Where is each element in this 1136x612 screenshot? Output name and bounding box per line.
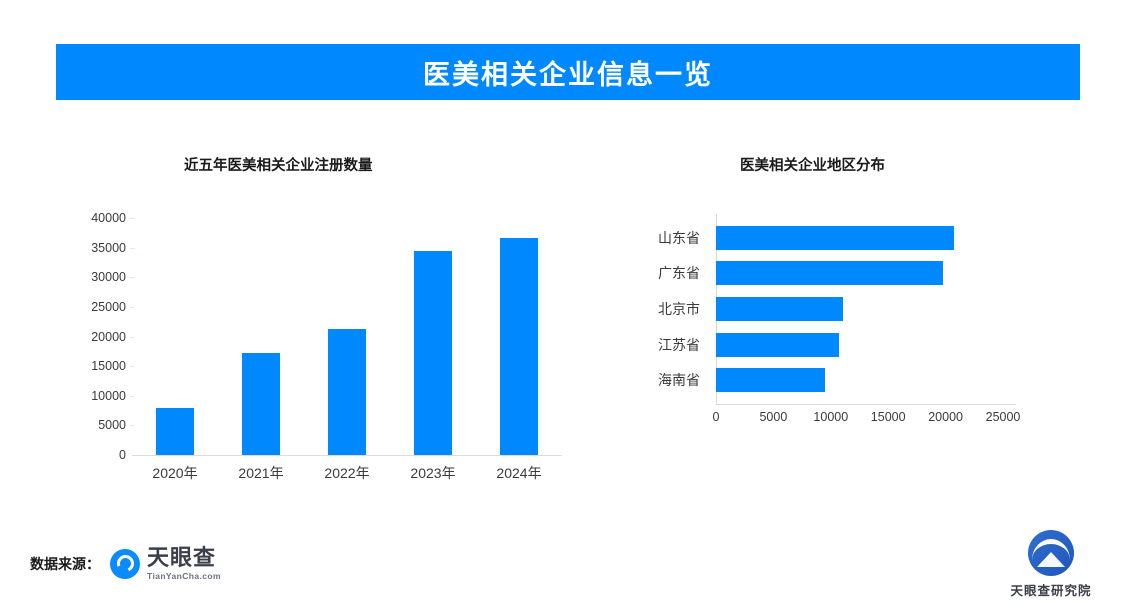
left-chart-bars [132, 218, 562, 455]
registration-count-chart: 近五年医美相关企业注册数量 05000100001500020000250003… [56, 148, 576, 498]
region-label: 江苏省 [610, 335, 716, 355]
tianyancha-logo: 天眼查 TianYanCha.com [110, 548, 221, 581]
infographic-page: 医美相关企业信息一览 近五年医美相关企业注册数量 050001000015000… [0, 0, 1136, 612]
region-row: 山东省 [610, 220, 1080, 256]
left-chart-x-tick: 2023年 [390, 463, 476, 483]
left-chart-baseline [132, 455, 562, 456]
region-bar-track [716, 327, 1080, 363]
bar [716, 333, 839, 357]
bar [242, 353, 280, 456]
right-chart-x-tick: 0 [713, 410, 720, 424]
right-chart-x-tick: 10000 [813, 410, 848, 424]
left-chart-y-tick: 5000 [98, 418, 126, 432]
bar [156, 408, 194, 455]
left-chart-y-tick: 25000 [91, 300, 126, 314]
region-row: 江苏省 [610, 327, 1080, 363]
left-chart-y-tick: 10000 [91, 389, 126, 403]
region-label: 海南省 [610, 370, 716, 390]
institute-logo: 天眼查研究院 [996, 530, 1106, 599]
left-chart-y-tick: 35000 [91, 241, 126, 255]
right-chart-x-axis: 0500010000150002000025000 [716, 410, 1036, 432]
tianyancha-eye-icon [110, 549, 140, 579]
left-chart-x-tick: 2022年 [304, 463, 390, 483]
header-banner: 医美相关企业信息一览 [56, 44, 1080, 100]
brand-name-cn: 天眼查 [147, 548, 221, 570]
right-chart-bars: 山东省广东省北京市江苏省海南省 [610, 220, 1080, 398]
institute-mark-icon [1028, 530, 1074, 576]
right-chart-x-tick: 20000 [928, 410, 963, 424]
brand-name-en: TianYanCha.com [147, 572, 221, 581]
bar [716, 297, 843, 321]
region-bar-track [716, 362, 1080, 398]
right-chart-x-tick: 15000 [871, 410, 906, 424]
page-title: 医美相关企业信息一览 [423, 53, 713, 92]
left-chart-tick-mark [130, 366, 135, 367]
left-chart-tick-mark [130, 248, 135, 249]
bar [716, 368, 825, 392]
bar-column [390, 218, 476, 455]
left-chart-y-tick: 15000 [91, 359, 126, 373]
left-chart-tick-mark [130, 307, 135, 308]
left-chart-y-axis: 0500010000150002000025000300003500040000 [56, 210, 126, 400]
left-chart-tick-mark [130, 218, 135, 219]
bar [414, 251, 452, 455]
left-chart-title: 近五年医美相关企业注册数量 [184, 154, 373, 175]
bar-column [304, 218, 390, 455]
bar [716, 261, 943, 285]
right-chart-title: 医美相关企业地区分布 [740, 154, 885, 175]
region-label: 北京市 [610, 299, 716, 319]
source-label: 数据来源： [30, 554, 100, 574]
bar [500, 238, 538, 455]
bar-column [476, 218, 562, 455]
region-bar-track [716, 291, 1080, 327]
left-chart-y-tick: 30000 [91, 270, 126, 284]
left-chart-y-tick: 40000 [91, 211, 126, 225]
region-label: 广东省 [610, 263, 716, 283]
region-bar-track [716, 220, 1080, 256]
left-chart-x-tick: 2024年 [476, 463, 562, 483]
left-chart-x-tick: 2020年 [132, 463, 218, 483]
right-chart-x-tick: 25000 [986, 410, 1021, 424]
left-chart-y-tick: 0 [119, 448, 126, 462]
left-chart-tick-mark [130, 337, 135, 338]
right-chart-x-axis-line [716, 404, 1016, 405]
region-label: 山东省 [610, 228, 716, 248]
bar-column [132, 218, 218, 455]
left-chart-y-tick: 20000 [91, 330, 126, 344]
left-chart-x-tick: 2021年 [218, 463, 304, 483]
right-chart-x-tick: 5000 [759, 410, 787, 424]
left-chart-x-axis: 2020年2021年2022年2023年2024年 [132, 463, 562, 483]
left-chart-tick-mark [130, 396, 135, 397]
region-row: 北京市 [610, 291, 1080, 327]
bar [716, 226, 954, 250]
bar [328, 329, 366, 455]
left-chart-tick-mark [130, 425, 135, 426]
bar-column [218, 218, 304, 455]
region-row: 海南省 [610, 362, 1080, 398]
region-bar-track [716, 256, 1080, 292]
institute-name: 天眼查研究院 [1010, 580, 1091, 599]
left-chart-tick-mark [130, 277, 135, 278]
region-distribution-chart: 医美相关企业地区分布 山东省广东省北京市江苏省海南省 0500010000150… [610, 148, 1080, 498]
data-source: 数据来源： 天眼查 TianYanCha.com [30, 548, 221, 581]
region-row: 广东省 [610, 256, 1080, 292]
